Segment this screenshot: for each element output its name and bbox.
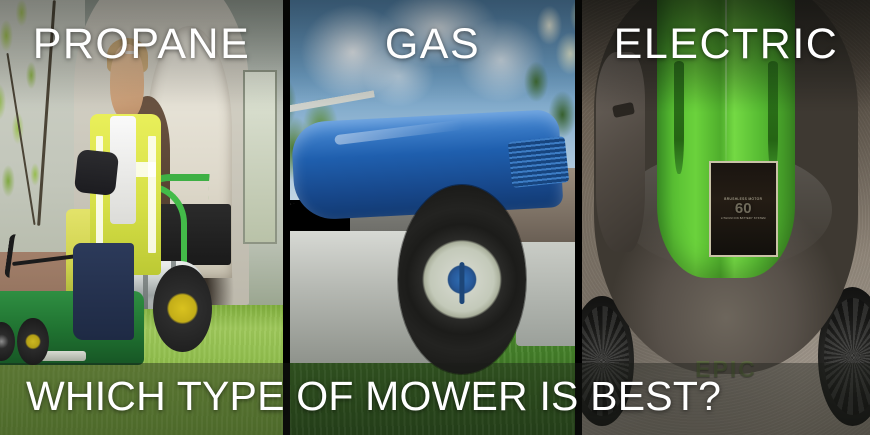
- heading-divider-spacer: [575, 0, 582, 105]
- wheel-hub: [459, 262, 464, 304]
- motor-spec-label: BRUSHLESS MOTOR 60 LITHIUM ION BATTERY S…: [709, 161, 778, 257]
- spec-label-subtitle: LITHIUM ION BATTERY SYSTEM: [721, 217, 766, 220]
- operator-arm: [74, 149, 119, 196]
- spec-label-voltage: 60: [735, 201, 752, 216]
- tagline-text: WHICH TYPE OF MOWER IS BEST?: [0, 363, 870, 435]
- hood-highlight: [334, 119, 463, 144]
- heading-gas: GAS: [290, 0, 575, 105]
- mower-comparison-graphic: BRUSHLESS MOTOR 60 LITHIUM ION BATTERY S…: [0, 0, 870, 435]
- mower-front-wheel: [398, 185, 526, 374]
- vest-stripe: [148, 136, 155, 253]
- mower-caster-wheel: [17, 318, 49, 366]
- operator-pants: [73, 243, 134, 340]
- panel-headings: PROPANE GAS ELECTRIC: [0, 0, 870, 105]
- heading-divider-spacer: [283, 0, 290, 105]
- mower-control-lever: [4, 233, 34, 279]
- heading-electric: ELECTRIC: [582, 0, 870, 105]
- gas-push-mower: [290, 104, 575, 391]
- engine-vents: [508, 136, 570, 188]
- heading-propane: PROPANE: [0, 0, 283, 105]
